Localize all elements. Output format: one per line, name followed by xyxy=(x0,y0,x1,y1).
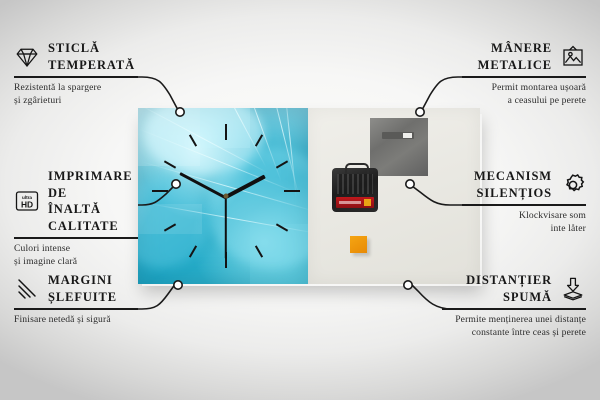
product-image xyxy=(138,108,480,284)
feature-polished-edges: MARGINI ȘLEFUITE Finisare netedă și sigu… xyxy=(14,272,138,327)
feature-subtitle: Klockvisare som inte låter xyxy=(462,210,586,236)
feature-rule xyxy=(462,76,586,78)
battery xyxy=(336,197,374,208)
mechanism-grill xyxy=(337,174,373,194)
connector-metal-handles xyxy=(422,77,462,110)
feature-title: STICLĂ TEMPERATĂ xyxy=(48,40,135,73)
infographic-canvas: STICLĂ TEMPERATĂ Rezistentă la spargere … xyxy=(0,0,600,400)
feature-subtitle: Permit montarea ușoară a ceasului pe per… xyxy=(462,82,586,108)
glass-clock-face xyxy=(138,108,311,284)
feature-subtitle: Culori intense și imagine clară xyxy=(14,243,138,269)
feature-foam-spacer: DISTANȚIER SPUMĂ Permite menținerea unei… xyxy=(442,272,586,339)
metal-hanger-plate xyxy=(370,118,428,176)
clock-tick xyxy=(284,190,300,192)
clock-tick xyxy=(225,124,227,140)
clock-second-hand xyxy=(225,197,227,259)
feature-title: MÂNERE METALICE xyxy=(478,40,552,73)
connector-tempered-glass xyxy=(138,77,178,110)
feature-subtitle: Finisare netedă și sigură xyxy=(14,314,138,327)
feature-metal-handles: MÂNERE METALICE Permit montarea ușoară a… xyxy=(462,40,586,107)
polished-edges-icon xyxy=(14,276,40,302)
clock-center-cap xyxy=(224,194,229,199)
artwork-glow xyxy=(138,178,208,268)
svg-text:HD: HD xyxy=(21,199,33,209)
feature-rule xyxy=(14,308,138,310)
connector-polished-edges xyxy=(138,283,176,309)
clock-back-panel xyxy=(308,108,480,284)
gear-icon xyxy=(560,172,586,198)
feature-tempered-glass: STICLĂ TEMPERATĂ Rezistentă la spargere … xyxy=(14,40,138,107)
feature-title: MECANISM SILENȚIOS xyxy=(474,168,552,201)
feature-title: IMPRIMARE DE ÎNALTĂ CALITATE xyxy=(48,168,138,234)
feature-subtitle: Rezistentă la spargere și zgârieturi xyxy=(14,82,138,108)
diamond-icon xyxy=(14,44,40,70)
hanger-slot xyxy=(382,132,414,139)
foam-spacer xyxy=(350,236,367,253)
feature-subtitle: Permite menținerea unei distanțe constan… xyxy=(442,314,586,340)
feature-title: DISTANȚIER SPUMĂ xyxy=(466,272,552,305)
feature-silent-mechanism: MECANISM SILENȚIOS Klockvisare som inte … xyxy=(462,168,586,235)
picture-frame-hook-icon xyxy=(560,44,586,70)
feature-print-quality: ultra HD IMPRIMARE DE ÎNALTĂ CALITATE Cu… xyxy=(14,168,138,268)
clock-tick xyxy=(152,190,168,192)
press-down-pad-icon xyxy=(560,276,586,302)
feature-rule xyxy=(14,237,138,239)
ultra-hd-icon: ultra HD xyxy=(14,188,40,214)
feature-rule xyxy=(442,308,586,310)
feature-rule xyxy=(14,76,138,78)
clock-mechanism xyxy=(332,168,378,212)
mechanism-bail xyxy=(345,163,369,174)
feature-rule xyxy=(462,204,586,206)
feature-title: MARGINI ȘLEFUITE xyxy=(48,272,117,305)
